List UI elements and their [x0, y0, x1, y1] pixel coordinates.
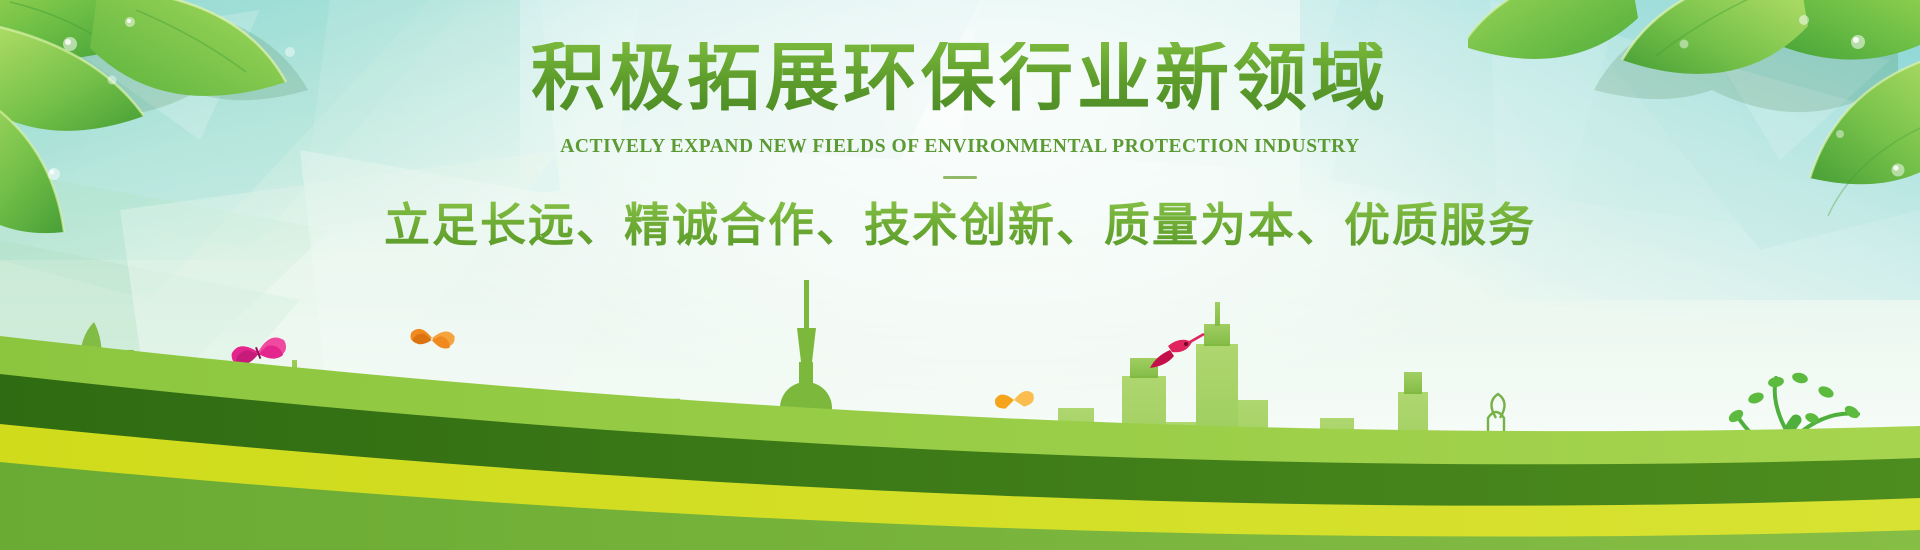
banner-copy: 积极拓展环保行业新领域 ACTIVELY EXPAND NEW FIELDS O… — [0, 42, 1920, 252]
slogan-text: 立足长远、精诚合作、技术创新、质量为本、优质服务 — [0, 201, 1920, 252]
eco-banner: 积极拓展环保行业新领域 ACTIVELY EXPAND NEW FIELDS O… — [0, 0, 1920, 550]
divider — [943, 176, 977, 179]
page-title: 积极拓展环保行业新领域 — [0, 42, 1920, 116]
page-subtitle: ACTIVELY EXPAND NEW FIELDS OF ENVIRONMEN… — [0, 136, 1920, 158]
